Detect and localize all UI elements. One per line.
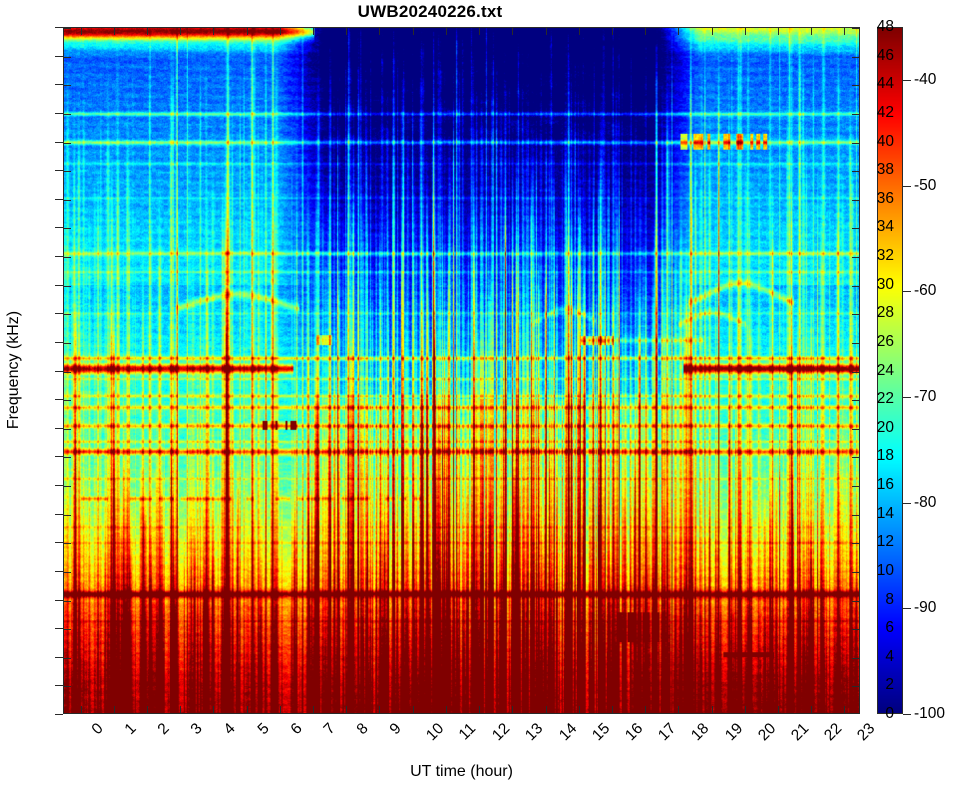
y-axis-tick: [55, 84, 63, 85]
y-axis-inner-tick: [64, 143, 71, 144]
y-axis-inner-tick-right: [852, 543, 859, 544]
x-axis-tick-top: [114, 28, 115, 35]
x-axis-tick: [811, 706, 812, 713]
x-axis-tick-top: [479, 28, 480, 35]
y-axis-tick-label: 30: [877, 276, 894, 294]
y-axis-tick: [55, 485, 63, 486]
x-axis-label: UT time (hour): [63, 763, 860, 781]
x-axis-tick-top: [678, 28, 679, 35]
colorbar-tick: [903, 503, 911, 504]
y-axis-inner-tick: [64, 400, 71, 401]
x-axis-tick-top: [579, 28, 580, 35]
y-axis-tick: [55, 628, 63, 629]
x-axis-tick: [247, 706, 248, 713]
y-axis-inner-tick: [64, 286, 71, 287]
x-axis-tick-top: [247, 28, 248, 35]
y-axis-tick-label: 6: [885, 619, 894, 637]
x-axis-tick-top: [280, 28, 281, 35]
x-axis-tick-label: 6: [287, 720, 306, 739]
y-axis-inner-tick: [64, 228, 71, 229]
y-axis-inner-tick-right: [852, 515, 859, 516]
y-axis-tick-label: 48: [877, 18, 894, 36]
x-axis-tick-top: [346, 28, 347, 35]
y-axis-inner-tick: [64, 515, 71, 516]
y-axis-tick-label: 10: [877, 562, 894, 580]
x-axis-tick: [180, 706, 181, 713]
x-axis-tick: [645, 706, 646, 713]
x-axis-tick: [844, 706, 845, 713]
y-axis-inner-tick-right: [852, 658, 859, 659]
x-axis-tick-label: 4: [221, 720, 240, 739]
y-axis-tick-label: 12: [877, 533, 894, 551]
y-axis-inner-tick: [64, 171, 71, 172]
y-axis-inner-tick-right: [852, 343, 859, 344]
y-axis-tick-label: 24: [877, 362, 894, 380]
x-axis-tick-label: 17: [655, 720, 680, 745]
x-axis-tick: [712, 706, 713, 713]
y-axis-tick-label: 38: [877, 161, 894, 179]
y-axis-tick: [55, 170, 63, 171]
x-axis-tick-label: 0: [88, 720, 107, 739]
y-axis-tick: [55, 256, 63, 257]
x-axis-tick-label: 11: [456, 720, 480, 744]
y-axis-inner-tick-right: [852, 457, 859, 458]
x-axis-tick: [313, 706, 314, 713]
y-axis-tick-label: 42: [877, 104, 894, 122]
colorbar-tick-label: -80: [914, 494, 936, 512]
y-axis-inner-tick-right: [852, 314, 859, 315]
y-axis-tick: [55, 542, 63, 543]
y-axis-inner-tick-right: [852, 486, 859, 487]
x-axis-tick: [778, 706, 779, 713]
x-axis-tick: [213, 706, 214, 713]
x-axis-tick-top: [147, 28, 148, 35]
y-axis-tick-label: 34: [877, 218, 894, 236]
x-axis-tick: [446, 706, 447, 713]
x-axis-tick-label: 12: [489, 720, 514, 745]
x-axis-tick-label: 5: [254, 720, 273, 739]
x-axis-tick: [612, 706, 613, 713]
y-axis-inner-tick-right: [852, 257, 859, 258]
y-axis-inner-tick-right: [852, 28, 859, 29]
y-axis-tick: [55, 227, 63, 228]
colorbar-tick-label: -40: [914, 71, 936, 89]
colorbar-tick-label: -60: [914, 282, 936, 300]
x-axis-tick-label: 7: [321, 720, 340, 739]
x-axis-tick-label: 10: [423, 720, 448, 745]
y-axis-tick-label: 16: [877, 476, 894, 494]
y-axis-tick: [55, 571, 63, 572]
y-axis-tick-label: 26: [877, 333, 894, 351]
x-axis-tick-top: [811, 28, 812, 35]
y-axis-tick: [55, 313, 63, 314]
y-axis-tick: [55, 56, 63, 57]
colorbar-tick-label: -70: [914, 388, 936, 406]
x-axis-tick-top: [512, 28, 513, 35]
x-axis-tick-top: [645, 28, 646, 35]
x-axis-tick: [81, 706, 82, 713]
y-axis-inner-tick: [64, 543, 71, 544]
colorbar-tick: [903, 397, 911, 398]
y-axis-inner-tick-right: [852, 686, 859, 687]
x-axis-tick-label: 2: [155, 720, 174, 739]
y-axis-inner-tick: [64, 114, 71, 115]
x-axis-tick-top: [745, 28, 746, 35]
x-axis-tick-label: 19: [722, 720, 747, 745]
x-axis-tick-top: [213, 28, 214, 35]
y-axis-tick-label: 46: [877, 47, 894, 65]
y-axis-inner-tick: [64, 314, 71, 315]
colorbar-tick: [903, 291, 911, 292]
y-axis-tick: [55, 600, 63, 601]
x-axis-tick-top: [546, 28, 547, 35]
x-axis-tick: [379, 706, 380, 713]
y-axis-tick-label: 2: [885, 676, 894, 694]
x-axis-tick-top: [612, 28, 613, 35]
y-axis-inner-tick-right: [852, 114, 859, 115]
y-axis-tick: [55, 514, 63, 515]
y-axis-tick: [55, 714, 63, 715]
figure-title: UWB20240226.txt: [0, 2, 860, 22]
y-axis-tick-label: 14: [877, 505, 894, 523]
y-axis-inner-tick: [64, 257, 71, 258]
y-axis-inner-tick: [64, 372, 71, 373]
y-axis-tick: [55, 285, 63, 286]
y-axis-tick-label: 44: [877, 75, 894, 93]
y-axis-tick: [55, 657, 63, 658]
y-axis-inner-tick: [64, 200, 71, 201]
x-axis-tick-label: 13: [522, 720, 547, 745]
y-axis-inner-tick: [64, 429, 71, 430]
y-axis-inner-tick-right: [852, 143, 859, 144]
x-axis-tick-label: 8: [354, 720, 373, 739]
x-axis-tick-top: [844, 28, 845, 35]
x-axis-tick-label: 20: [755, 720, 780, 745]
y-axis-tick-label: 32: [877, 247, 894, 265]
y-axis-tick-label: 8: [885, 591, 894, 609]
y-axis-tick: [55, 142, 63, 143]
x-axis-tick-top: [81, 28, 82, 35]
colorbar-tick-label: -100: [914, 705, 945, 723]
y-axis-inner-tick-right: [852, 228, 859, 229]
x-axis-tick: [114, 706, 115, 713]
x-axis-tick-label: 1: [121, 720, 140, 739]
y-axis-tick: [55, 428, 63, 429]
colorbar-tick: [903, 80, 911, 81]
x-axis-tick-top: [446, 28, 447, 35]
y-axis-inner-tick: [64, 486, 71, 487]
x-axis-tick: [546, 706, 547, 713]
x-axis-tick-top: [313, 28, 314, 35]
x-axis-tick-top: [413, 28, 414, 35]
y-axis-inner-tick: [64, 57, 71, 58]
y-axis-tick-label: 28: [877, 304, 894, 322]
colorbar-tick-label: -90: [914, 599, 936, 617]
x-axis-tick-label: 15: [589, 720, 614, 745]
y-axis-inner-tick: [64, 629, 71, 630]
spectrogram-figure: UWB20240226.txt Frequency (kHz) UT time …: [0, 0, 960, 786]
y-axis-tick-label: 4: [885, 648, 894, 666]
colorbar-tick: [903, 714, 911, 715]
y-axis-tick: [55, 113, 63, 114]
y-axis-label: Frequency (kHz): [5, 311, 23, 429]
y-axis-tick: [55, 27, 63, 28]
y-axis-inner-tick-right: [852, 286, 859, 287]
x-axis-tick: [280, 706, 281, 713]
x-axis-tick-top: [379, 28, 380, 35]
y-axis-tick-label: 0: [885, 705, 894, 723]
x-axis-tick: [147, 706, 148, 713]
x-axis-tick-label: 14: [556, 720, 581, 745]
y-axis-inner-tick: [64, 686, 71, 687]
y-axis-tick: [55, 399, 63, 400]
y-axis-tick: [55, 371, 63, 372]
y-axis-tick: [55, 199, 63, 200]
y-axis-inner-tick: [64, 601, 71, 602]
y-axis-tick: [55, 456, 63, 457]
x-axis-tick: [346, 706, 347, 713]
y-axis-tick-label: 20: [877, 419, 894, 437]
x-axis-tick-label: 22: [821, 720, 846, 745]
y-axis-inner-tick-right: [852, 629, 859, 630]
x-axis-tick: [479, 706, 480, 713]
y-axis-inner-tick-right: [852, 572, 859, 573]
y-axis-inner-tick-right: [852, 200, 859, 201]
colorbar-tick: [903, 608, 911, 609]
y-axis-tick: [55, 685, 63, 686]
y-axis-inner-tick: [64, 572, 71, 573]
x-axis-tick-label: 23: [854, 720, 879, 745]
x-axis-tick-label: 16: [622, 720, 647, 745]
spectrogram-image: [64, 28, 859, 713]
x-axis-tick: [579, 706, 580, 713]
y-axis-inner-tick-right: [852, 171, 859, 172]
x-axis-tick-label: 18: [688, 720, 713, 745]
y-axis-tick-label: 18: [877, 447, 894, 465]
x-axis-tick: [678, 706, 679, 713]
y-axis-inner-tick: [64, 457, 71, 458]
y-axis-inner-tick-right: [852, 85, 859, 86]
y-axis-inner-tick-right: [852, 601, 859, 602]
x-axis-tick-top: [712, 28, 713, 35]
y-axis-tick-label: 22: [877, 390, 894, 408]
y-axis-tick-label: 36: [877, 190, 894, 208]
x-axis-tick-label: 21: [788, 720, 813, 745]
colorbar-tick: [903, 186, 911, 187]
y-axis-inner-tick: [64, 658, 71, 659]
x-axis-tick-top: [778, 28, 779, 35]
spectrogram-plot-area[interactable]: [63, 27, 860, 714]
y-axis-inner-tick-right: [852, 429, 859, 430]
y-axis-inner-tick: [64, 343, 71, 344]
x-axis-tick: [745, 706, 746, 713]
x-axis-tick-label: 9: [387, 720, 406, 739]
x-axis-tick: [413, 706, 414, 713]
x-axis-tick-label: 3: [188, 720, 207, 739]
y-axis-inner-tick: [64, 85, 71, 86]
y-axis-inner-tick-right: [852, 372, 859, 373]
y-axis-tick: [55, 342, 63, 343]
y-axis-inner-tick-right: [852, 57, 859, 58]
y-axis-inner-tick-right: [852, 400, 859, 401]
spectrogram-canvas: [64, 28, 859, 713]
colorbar-tick-label: -50: [914, 177, 936, 195]
x-axis-tick-top: [180, 28, 181, 35]
y-axis-inner-tick: [64, 28, 71, 29]
y-axis-tick-label: 40: [877, 133, 894, 151]
x-axis-tick: [512, 706, 513, 713]
